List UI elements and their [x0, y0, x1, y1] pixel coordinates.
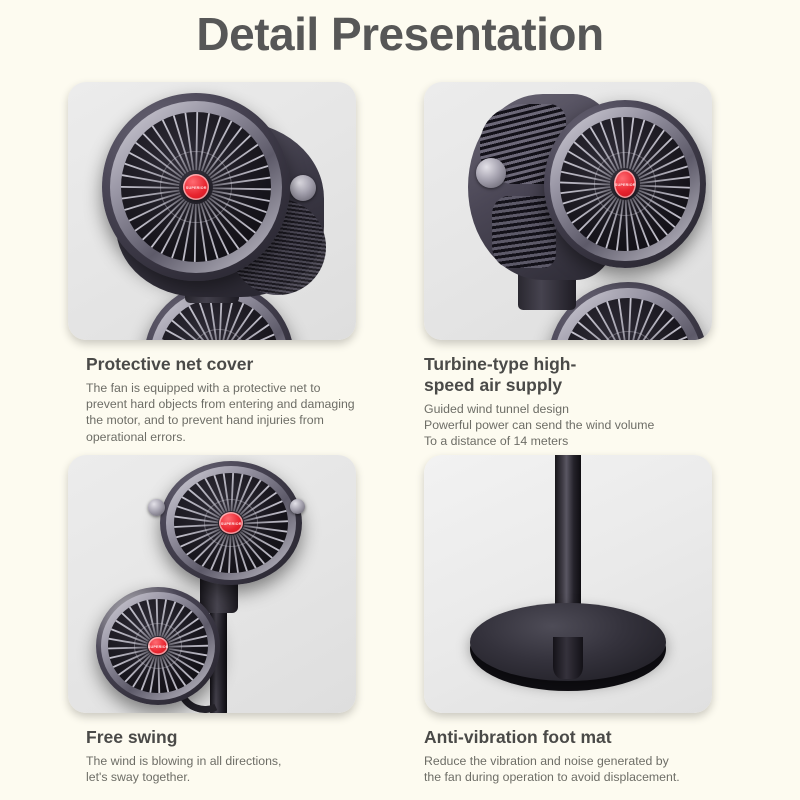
fan-center-label-text: SUPERIOR — [186, 185, 207, 190]
fan-center-label-lower: SUPERIOR — [148, 637, 168, 655]
caption-body: Reduce the vibration and noise generated… — [424, 748, 712, 785]
fan-center-label: SUPERIOR — [614, 170, 636, 198]
product-photo-protective-net-cover: SUPERIOR — [68, 82, 356, 340]
caption-body: The wind is blowing in all directions, l… — [68, 748, 356, 785]
fan-head-primary: SUPERIOR — [102, 93, 290, 281]
fan-center-label: SUPERIOR — [183, 174, 209, 200]
fan-head-lower: SUPERIOR — [96, 587, 220, 705]
fan-illustration-front: SUPERIOR — [82, 87, 342, 340]
caption-heading: Free swing — [68, 727, 356, 748]
product-photo-anti-vibration-foot-mat — [424, 455, 712, 713]
fan-pivot-knob-upper-left — [148, 499, 165, 516]
fan-head-primary: SUPERIOR — [544, 100, 706, 268]
caption-heading: Anti-vibration foot mat — [424, 727, 712, 748]
caption-heading: Protective net cover — [68, 354, 356, 375]
product-photo-free-swing: SUPERIOR SUPERIOR — [68, 455, 356, 713]
caption-body: Guided wind tunnel design Powerful power… — [424, 396, 712, 450]
caption-heading: Turbine-type high- speed air supply — [424, 354, 712, 396]
caption-turbine-air-supply: Turbine-type high- speed air supply Guid… — [424, 340, 712, 450]
caption-free-swing: Free swing The wind is blowing in all di… — [68, 713, 356, 785]
fan-center-label-text: SUPERIOR — [221, 521, 242, 526]
stand-pole-foot-brace — [553, 637, 583, 679]
fan-pivot-knob-upper-right — [290, 499, 305, 514]
caption-anti-vibration-foot-mat: Anti-vibration foot mat Reduce the vibra… — [424, 713, 712, 785]
caption-body: The fan is equipped with a protective ne… — [68, 375, 356, 445]
caption-protective-net-cover: Protective net cover The fan is equipped… — [68, 340, 356, 445]
fan-center-label-upper: SUPERIOR — [219, 512, 243, 534]
stand-base-illustration — [424, 455, 712, 713]
panel-free-swing: SUPERIOR SUPERIOR Free swing The wind — [68, 455, 356, 785]
panel-protective-net-cover: SUPERIOR Protective net cover The fan is… — [68, 82, 356, 445]
page-title: Detail Presentation — [0, 0, 800, 61]
product-photo-turbine-air-supply: SUPERIOR — [424, 82, 712, 340]
fan-head-upper: SUPERIOR — [160, 461, 302, 585]
fan-illustration-swing: SUPERIOR SUPERIOR — [68, 455, 356, 713]
fan-center-label-text: SUPERIOR — [148, 644, 169, 649]
fan-illustration-angled: SUPERIOR — [430, 84, 706, 340]
panel-anti-vibration-foot-mat: Anti-vibration foot mat Reduce the vibra… — [424, 455, 712, 785]
fan-center-label-text: SUPERIOR — [615, 182, 636, 187]
fan-pivot-knob — [290, 175, 316, 201]
fan-side-knob — [476, 158, 506, 188]
panel-turbine-type-high-speed-air-supply: SUPERIOR Turbine-type high- speed air su… — [424, 82, 712, 450]
